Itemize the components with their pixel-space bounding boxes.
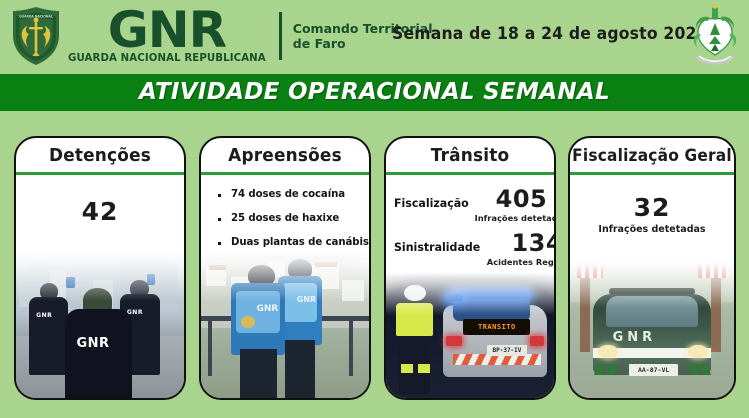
vehicle-gnr-text: GNR	[613, 330, 657, 345]
card-title-apreensoes: Apreensões	[206, 138, 364, 172]
list-item: Duas plantas de canábis	[215, 237, 361, 248]
svg-text:GUARDA NACIONAL: GUARDA NACIONAL	[19, 14, 53, 18]
gnr-abbreviation: GNR	[108, 8, 226, 52]
metric-label: Sinistralidade	[394, 231, 480, 254]
week-range-label: Semana de 18 a 24 de agosto 2025	[392, 24, 668, 44]
metric-caption: Infrações detetadas	[475, 213, 556, 223]
metric-caption: Acidentes Registados	[487, 257, 556, 267]
fiscalizacao-geral-caption: Infrações detetadas	[570, 224, 734, 235]
main-title-banner: ATIVIDADE OPERACIONAL SEMANAL	[0, 74, 749, 110]
vehicle-plate-text: AA-87-VL	[638, 366, 669, 374]
gnr-wordmark: GNR GUARDA NACIONAL REPUBLICANA	[68, 8, 266, 64]
metric-sinistralidade: Sinistralidade 134 Acidentes Registados	[386, 223, 554, 267]
detencoes-value: 42	[16, 175, 184, 226]
card-title-fiscalizacao-geral: Fiscalização Geral	[575, 138, 729, 172]
list-item: 25 doses de haxixe	[215, 213, 361, 224]
photo-scene: GNR GNR GNR	[16, 250, 184, 400]
metric-number: 134	[511, 229, 556, 257]
led-sign-text: TRANSITO	[478, 323, 516, 331]
card-body-detencoes: 42 GNR GNR	[16, 175, 184, 400]
card-apreensoes: Apreensões 74 doses de cocaína 25 doses …	[199, 136, 371, 400]
command-line-2: de Faro	[293, 36, 346, 51]
card-fiscalizacao-geral: Fiscalização Geral 32 Infrações detetada…	[568, 136, 736, 400]
list-item: 74 doses de cocaína	[215, 189, 361, 200]
card-body-transito: Fiscalização 405 Infrações detetadas Sin…	[386, 175, 554, 400]
brand-divider	[279, 12, 282, 60]
faro-command-crest-icon	[689, 3, 741, 69]
gnr-full-name: GUARDA NACIONAL REPUBLICANA	[68, 53, 266, 64]
card-body-apreensoes: 74 doses de cocaína 25 doses de haxixe D…	[201, 175, 369, 400]
photo-scene: GNR GNR	[201, 250, 369, 400]
night-traffic-stop-photo: TRANSITO BP-37-IV	[386, 272, 554, 400]
gnr-branding: GUARDA NACIONAL GNR GUARDA NACIONAL REPU…	[8, 4, 433, 68]
cards-container: Detenções 42 GNR GNR	[0, 118, 749, 404]
card-detencoes: Detenções 42 GNR GNR	[14, 136, 186, 400]
metric-number: 405	[496, 185, 548, 213]
card-transito: Trânsito Fiscalização 405 Infrações dete…	[384, 136, 556, 400]
main-title-text: ATIVIDADE OPERACIONAL SEMANAL	[139, 79, 610, 105]
vehicle-plate-text: BP-37-IV	[493, 347, 522, 354]
fiscalizacao-geral-value: 32	[570, 175, 734, 222]
two-gnr-officers-overlook-photo: GNR GNR	[201, 250, 369, 400]
gnr-patrol-car-photo: GNR AA-87-VL	[570, 260, 734, 400]
photo-scene: TRANSITO BP-37-IV	[386, 272, 554, 400]
metric-value-group: 134 Acidentes Registados	[485, 231, 556, 267]
page-header: GUARDA NACIONAL GNR GUARDA NACIONAL REPU…	[0, 0, 749, 74]
gnr-shield-crest-icon: GUARDA NACIONAL	[8, 5, 64, 67]
photo-scene: GNR AA-87-VL	[570, 260, 734, 400]
metric-label: Fiscalização	[394, 187, 469, 210]
three-gnr-officers-photo: GNR GNR GNR	[16, 250, 184, 400]
metric-fiscalizacao: Fiscalização 405 Infrações detetadas	[386, 175, 554, 223]
card-title-transito: Trânsito	[391, 138, 549, 172]
metric-value-group: 405 Infrações detetadas	[473, 187, 556, 223]
card-body-fiscalizacao-geral: 32 Infrações detetadas GNR	[570, 175, 734, 400]
card-title-detencoes: Detenções	[21, 138, 179, 172]
